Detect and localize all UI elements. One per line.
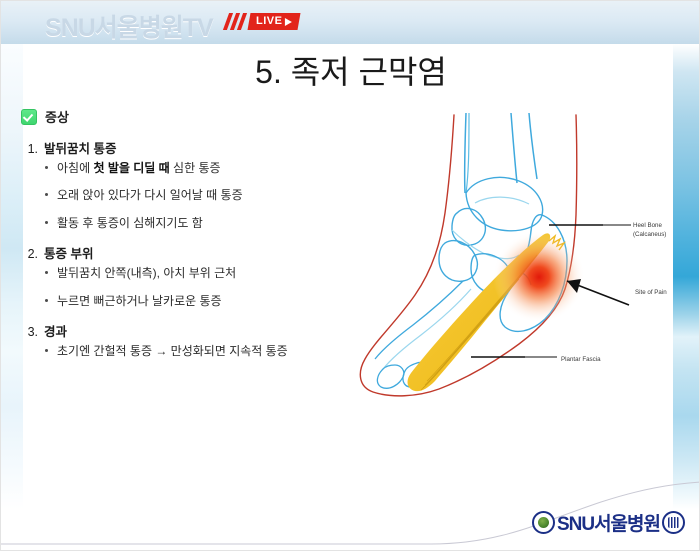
item-number: 1. xyxy=(25,142,38,156)
item-heading: 경과 xyxy=(44,321,67,340)
list-item: 1. 발뒤꿈치 통증 아침에 첫 발을 디딜 때 심한 통증 오래 앉아 있다가… xyxy=(21,138,371,230)
hospital-crest-icon xyxy=(532,511,555,534)
bullet-text: 오래 앉아 있다가 다시 일어날 때 통증 xyxy=(57,188,243,202)
numbered-heading: 2. 통증 부위 xyxy=(25,243,371,262)
bullet-text: 활동 후 통증이 심해지기도 함 xyxy=(57,216,203,230)
section-header: 증상 xyxy=(21,107,371,126)
presentation-slide: SNU서울병원TV LIVE 5. 족저 근막염 증상 1. 발뒤꿈치 통증 xyxy=(0,0,700,551)
bullet-item: 누르면 뻐근하거나 날카로운 통증 xyxy=(21,294,371,308)
navicular-bone-path xyxy=(452,208,485,245)
slash-marks-icon xyxy=(226,13,248,30)
item-heading: 통증 부위 xyxy=(44,243,93,262)
bullet-item: 오래 앉아 있다가 다시 일어날 때 통증 xyxy=(21,188,371,202)
fibula-outer-path xyxy=(529,113,537,179)
label-heel-bone: Heel Bone (Calcaneus) xyxy=(633,222,666,240)
talus-detail-path xyxy=(475,197,529,204)
phalanx-bone-path xyxy=(377,365,404,388)
university-seal-icon xyxy=(662,511,685,534)
item-number: 3. xyxy=(25,325,38,339)
label-heel-bone-line2: (Calcaneus) xyxy=(633,231,666,240)
talus-bone-path xyxy=(466,177,543,230)
bullet-dot-icon xyxy=(45,166,48,169)
green-check-icon xyxy=(21,109,37,125)
bullet-dot-icon xyxy=(45,349,48,352)
tibia-inner-path xyxy=(466,113,469,193)
pain-glow-marker xyxy=(493,231,585,323)
content-column: 증상 1. 발뒤꿈치 통증 아침에 첫 발을 디딜 때 심한 통증 오래 앉아 … xyxy=(21,107,371,371)
page-title: 5. 족저 근막염 xyxy=(1,47,700,93)
bullet-list: 발뒤꿈치 안쪽(내측), 아치 부위 근처 누르면 뻐근하거나 날카로운 통증 xyxy=(21,266,371,308)
item-heading: 발뒤꿈치 통증 xyxy=(44,138,116,157)
bullet-dot-icon xyxy=(45,299,48,302)
bullet-item: 활동 후 통증이 심해지기도 함 xyxy=(21,216,371,230)
bullet-list: 초기엔 간헐적 통증 → 만성화되면 지속적 통증 xyxy=(21,344,371,358)
footer-logo-text: SNU서울병원 xyxy=(557,509,660,536)
numbered-heading: 3. 경과 xyxy=(25,321,371,340)
bullet-item: 초기엔 간헐적 통증 → 만성화되면 지속적 통증 xyxy=(21,344,371,358)
live-badge-group: LIVE xyxy=(226,11,299,32)
list-item: 3. 경과 초기엔 간헐적 통증 → 만성화되면 지속적 통증 xyxy=(21,321,371,358)
bullet-item: 발뒤꿈치 안쪽(내측), 아치 부위 근처 xyxy=(21,266,371,280)
channel-brand-title: SNU서울병원TV xyxy=(45,8,213,44)
foot-anatomy-figure xyxy=(353,109,683,429)
tibia-bone-path xyxy=(465,113,466,193)
bullet-text: 발뒤꿈치 안쪽(내측), 아치 부위 근처 xyxy=(57,266,236,280)
header-band: SNU서울병원TV LIVE xyxy=(1,1,700,44)
bullet-text-post: 심한 통증 xyxy=(170,161,221,175)
label-plantar-fascia: Plantar Fascia xyxy=(561,356,601,365)
bullet-dot-icon xyxy=(45,193,48,196)
bullet-dot-icon xyxy=(45,271,48,274)
numbered-heading: 1. 발뒤꿈치 통증 xyxy=(25,138,371,157)
play-triangle-icon xyxy=(285,18,292,26)
footer-logo: SNU서울병원 xyxy=(532,509,685,536)
live-badge: LIVE xyxy=(248,13,301,30)
bullet-text-pre: 아침에 xyxy=(57,161,93,175)
left-edge-gradient xyxy=(1,44,23,509)
bullet-text-bold: 첫 발을 디딜 때 xyxy=(93,161,169,175)
list-item: 2. 통증 부위 발뒤꿈치 안쪽(내측), 아치 부위 근처 누르면 뻐근하거나… xyxy=(21,243,371,308)
label-site-of-pain: Site of Pain xyxy=(635,289,667,298)
bullet-list: 아침에 첫 발을 디딜 때 심한 통증 오래 앉아 있다가 다시 일어날 때 통… xyxy=(21,161,371,230)
fibula-bone-path xyxy=(511,113,517,183)
item-number: 2. xyxy=(25,247,38,261)
bullet-item: 아침에 첫 발을 디딜 때 심한 통증 xyxy=(21,161,371,175)
live-label: LIVE xyxy=(256,15,282,28)
label-heel-bone-line1: Heel Bone xyxy=(633,222,666,231)
section-label: 증상 xyxy=(45,107,69,126)
bullet-dot-icon xyxy=(45,221,48,224)
foot-anatomy-svg xyxy=(353,109,683,429)
bullet-text: 초기엔 간헐적 통증 → 만성화되면 지속적 통증 xyxy=(57,344,288,358)
bullet-text: 누르면 뻐근하거나 날카로운 통증 xyxy=(57,294,222,308)
